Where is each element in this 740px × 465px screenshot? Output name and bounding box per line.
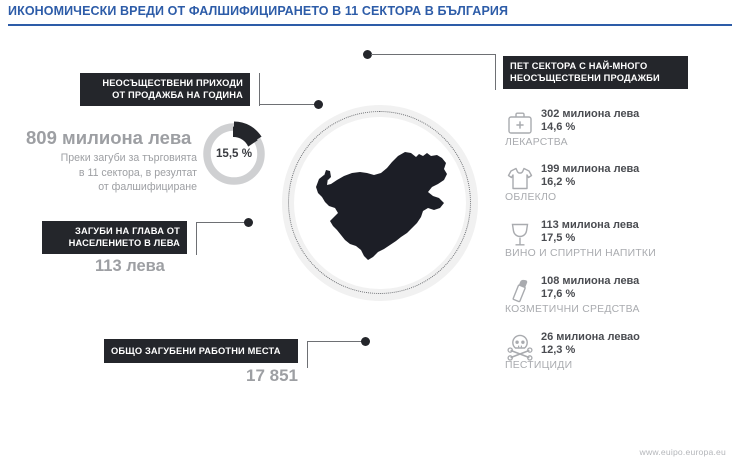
skull-crossbones-icon xyxy=(505,332,535,362)
page-title: ИКОНОМИЧЕСКИ ВРЕДИ ОТ ФАЛШИФИЦИРАНЕТО В … xyxy=(8,4,508,18)
jobs-lost-value: 17 851 xyxy=(246,366,298,386)
revenue-description-line1: Преки загуби за търговията xyxy=(61,152,197,164)
connector-3-horizontal xyxy=(307,341,365,342)
unrealised-sales-label: НЕОСЪЩЕСТВЕНИ ПРИХОДИ ОТ ПРОДАЖБА НА ГОД… xyxy=(80,73,250,106)
connector-4-horizontal xyxy=(371,54,496,55)
sector-percent: 17,6 % xyxy=(541,288,575,300)
jobs-lost-label-line1: ОБЩО ЗАГУБЕНИ РАБОТНИ МЕСТА xyxy=(111,346,281,356)
infographic-canvas: ИКОНОМИЧЕСКИ ВРЕДИ ОТ ФАЛШИФИЦИРАНЕТО В … xyxy=(0,0,740,465)
connector-1-dot xyxy=(314,100,323,109)
revenue-value: 809 милиона лева xyxy=(26,127,191,149)
connector-1-vertical xyxy=(259,73,260,106)
donut-chart: 15,5 % xyxy=(200,120,268,188)
sector-name: КОЗМЕТИЧНИ СРЕДСТВА xyxy=(505,304,640,315)
connector-3-vertical xyxy=(307,341,308,368)
revenue-description: Преки загуби за търговията в 11 сектора,… xyxy=(0,151,197,195)
sector-percent: 17,5 % xyxy=(541,232,575,244)
top-five-sectors-label-line1: ПЕТ СЕКТОРА С НАЙ-МНОГО xyxy=(510,61,647,71)
revenue-description-line2: в 11 сектора, в резултат xyxy=(79,167,197,179)
sector-amount: 199 милиона лева xyxy=(541,163,639,175)
sector-name: ПЕСТИЦИДИ xyxy=(505,360,572,371)
connector-2-dot xyxy=(244,218,253,227)
header: ИКОНОМИЧЕСКИ ВРЕДИ ОТ ФАЛШИФИЦИРАНЕТО В … xyxy=(0,0,740,25)
sector-amount: 113 милиона лева xyxy=(541,219,639,231)
sector-amount: 302 милиона лева xyxy=(541,108,639,120)
sector-amount: 26 милиона леваo xyxy=(541,331,640,343)
loss-per-capita-value: 113 лева xyxy=(95,257,165,276)
sector-name: ЛЕКАРСТВА xyxy=(505,137,568,148)
connector-2-vertical xyxy=(196,222,197,255)
sector-percent: 12,3 % xyxy=(541,344,575,356)
unrealised-sales-label-line2: ОТ ПРОДАЖБА НА ГОДИНА xyxy=(112,90,243,100)
donut-value-label: 15,5 % xyxy=(200,147,268,160)
tshirt-icon xyxy=(505,164,535,194)
jobs-lost-label: ОБЩО ЗАГУБЕНИ РАБОТНИ МЕСТА xyxy=(104,339,298,363)
bulgaria-map xyxy=(304,140,456,262)
connector-2-horizontal xyxy=(196,222,248,223)
sector-percent: 14,6 % xyxy=(541,121,575,133)
loss-per-capita-label: ЗАГУБИ НА ГЛАВА ОТ НАСЕЛЕНИЕТО В ЛЕВА xyxy=(42,221,187,254)
connector-1-horizontal xyxy=(259,104,319,105)
footer-url: www.euipo.europa.eu xyxy=(640,447,726,457)
bulgaria-map-path xyxy=(316,152,447,260)
sector-name: ВИНО И СПИРТНИ НАПИТКИ xyxy=(505,248,656,259)
first-aid-kit-icon xyxy=(505,109,535,139)
lipstick-icon xyxy=(505,276,535,306)
unrealised-sales-label-line1: НЕОСЪЩЕСТВЕНИ ПРИХОДИ xyxy=(102,78,243,88)
header-divider xyxy=(8,24,732,26)
connector-3-dot xyxy=(361,337,370,346)
wine-glass-icon xyxy=(505,220,535,250)
revenue-description-line3: от фалшифициране xyxy=(98,181,197,193)
sector-name: ОБЛЕКЛО xyxy=(505,192,556,203)
connector-4-vertical xyxy=(495,54,496,90)
sector-percent: 16,2 % xyxy=(541,176,575,188)
sector-amount: 108 милиона лева xyxy=(541,275,639,287)
top-five-sectors-label: ПЕТ СЕКТОРА С НАЙ-МНОГО НЕОСЪЩЕСТВЕНИ ПР… xyxy=(503,56,688,89)
loss-per-capita-label-line1: ЗАГУБИ НА ГЛАВА ОТ xyxy=(75,226,180,236)
top-five-sectors-label-line2: НЕОСЪЩЕСТВЕНИ ПРОДАЖБИ xyxy=(510,73,660,83)
loss-per-capita-label-line2: НАСЕЛЕНИЕТО В ЛЕВА xyxy=(69,238,180,248)
